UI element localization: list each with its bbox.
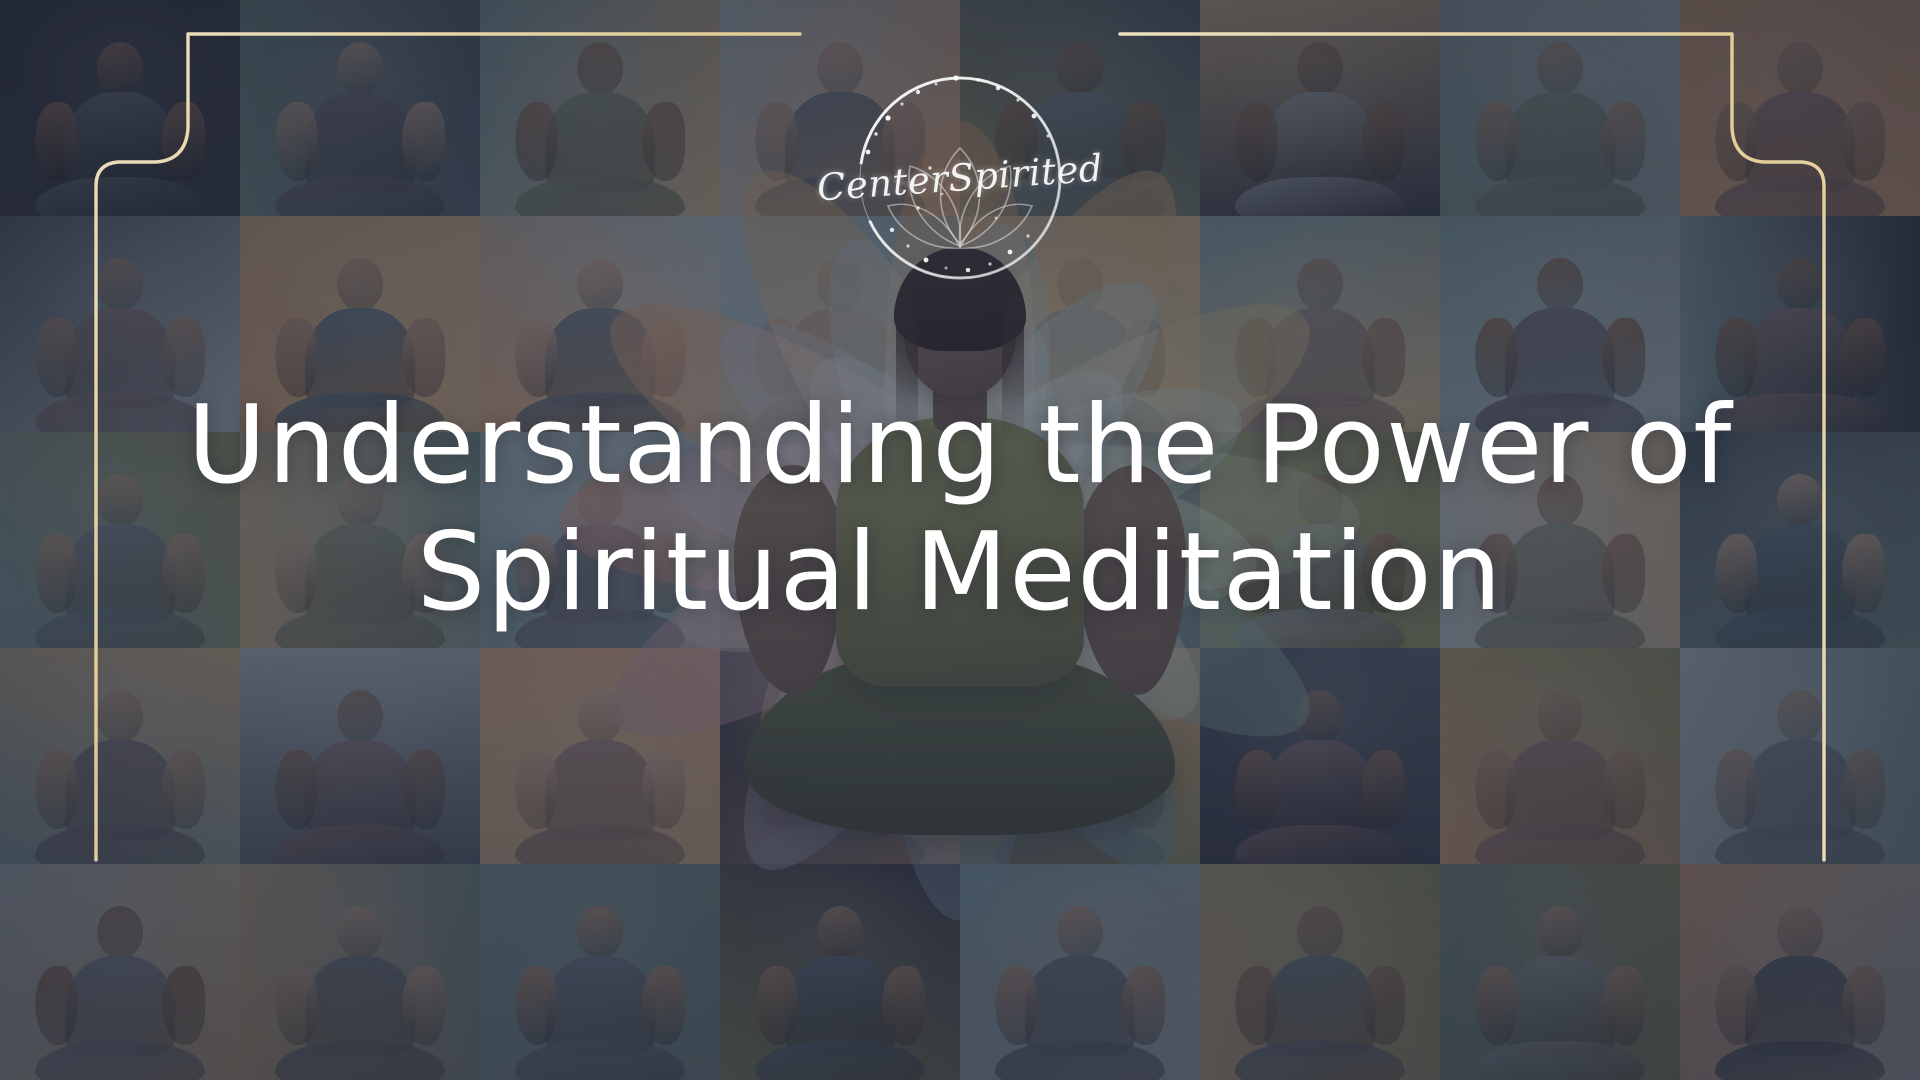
hero-title-line-2: Spiritual Meditation [120, 509, 1800, 636]
hero-banner: CenterSpirited [0, 0, 1920, 1080]
brand-logo[interactable]: CenterSpirited [830, 48, 1090, 308]
hero-title-line-1: Understanding the Power of [120, 382, 1800, 509]
hero-title: Understanding the Power of Spiritual Med… [0, 382, 1920, 637]
